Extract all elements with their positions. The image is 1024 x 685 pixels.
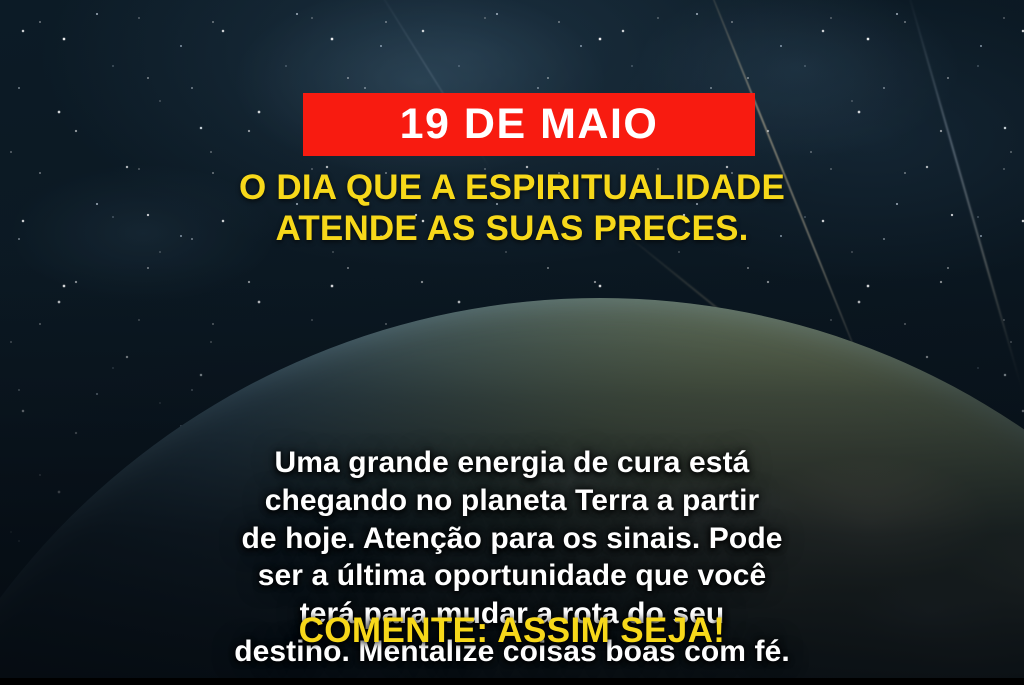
date-banner: 19 DE MAIO: [303, 93, 755, 156]
headline-line-2: ATENDE AS SUAS PRECES.: [0, 208, 1024, 249]
headline: O DIA QUE A ESPIRITUALIDADE ATENDE AS SU…: [0, 167, 1024, 250]
headline-line-1: O DIA QUE A ESPIRITUALIDADE: [0, 167, 1024, 208]
bottom-black-bar: [0, 678, 1024, 685]
date-banner-label: 19 DE MAIO: [400, 103, 659, 146]
poster-canvas: 19 DE MAIO O DIA QUE A ESPIRITUALIDADE A…: [0, 0, 1024, 685]
call-to-action-text: COMENTE: ASSIM SEJA!: [0, 612, 1024, 651]
body-line-2: chegando no planeta Terra a partir: [0, 482, 1024, 520]
body-line-4: ser a última oportunidade que você: [0, 557, 1024, 595]
body-line-1: Uma grande energia de cura está: [0, 444, 1024, 482]
body-line-3: de hoje. Atenção para os sinais. Pode: [0, 520, 1024, 558]
